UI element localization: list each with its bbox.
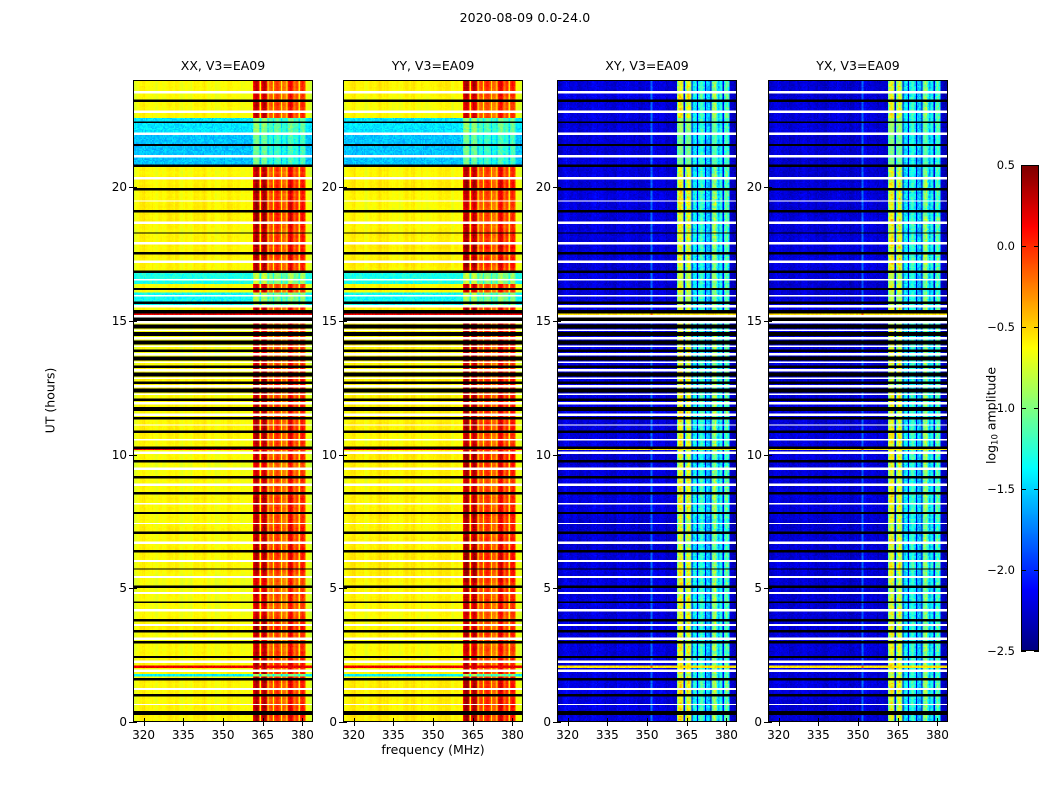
y-tick-label: 0 <box>724 715 762 729</box>
x-tick-mark <box>433 718 434 722</box>
x-tick-label: 335 <box>163 728 203 742</box>
x-tick-mark <box>779 718 780 722</box>
y-tick-label: 0 <box>513 715 551 729</box>
y-tick-label: 20 <box>513 180 551 194</box>
y-tick-mark <box>557 455 561 456</box>
panel-title-yy: YY, V3=EA09 <box>343 58 523 73</box>
x-tick-mark <box>898 722 899 726</box>
x-tick-label: 320 <box>548 728 588 742</box>
x-tick-mark <box>858 722 859 726</box>
colorbar-tick-mark <box>1034 489 1039 490</box>
x-tick-mark <box>687 718 688 722</box>
x-tick-label: 380 <box>492 728 532 742</box>
figure-suptitle: 2020-08-09 0.0-24.0 <box>0 10 1050 25</box>
y-tick-label: 15 <box>89 314 127 328</box>
y-tick-mark <box>768 187 772 188</box>
heatmap-image-xx <box>134 81 312 721</box>
x-tick-label: 335 <box>373 728 413 742</box>
x-tick-mark <box>607 722 608 726</box>
x-tick-mark <box>183 722 184 726</box>
x-tick-mark <box>183 718 184 722</box>
x-tick-mark <box>937 722 938 726</box>
panel-title-yx: YX, V3=EA09 <box>768 58 948 73</box>
x-tick-mark <box>818 718 819 722</box>
y-tick-mark <box>343 455 347 456</box>
y-tick-label: 15 <box>724 314 762 328</box>
y-tick-mark <box>557 588 561 589</box>
colorbar-tick-mark <box>1021 489 1026 490</box>
x-tick-label: 350 <box>413 728 453 742</box>
x-tick-mark <box>473 722 474 726</box>
colorbar-label-subscript: 10 <box>991 434 1001 445</box>
y-tick-mark <box>768 455 772 456</box>
x-tick-mark <box>354 718 355 722</box>
y-tick-mark <box>343 588 347 589</box>
y-tick-label: 0 <box>299 715 337 729</box>
colorbar-tick-mark <box>1021 327 1026 328</box>
x-tick-label: 335 <box>798 728 838 742</box>
colorbar-tick-mark <box>1021 165 1026 166</box>
x-tick-label: 320 <box>124 728 164 742</box>
y-tick-label: 5 <box>89 581 127 595</box>
y-tick-mark <box>133 722 137 723</box>
x-tick-mark <box>263 722 264 726</box>
colorbar-tick-mark <box>1021 408 1026 409</box>
x-tick-mark <box>818 722 819 726</box>
colorbar-tick-mark <box>1034 327 1039 328</box>
x-tick-label: 350 <box>203 728 243 742</box>
y-tick-mark <box>343 321 347 322</box>
x-tick-label: 365 <box>667 728 707 742</box>
colorbar-label: log10 amplitude <box>984 136 999 696</box>
x-tick-label: 365 <box>243 728 283 742</box>
heatmap-image-yx <box>769 81 947 721</box>
heatmap-panel-xy[interactable] <box>557 80 737 722</box>
panel-title-xy: XY, V3=EA09 <box>557 58 737 73</box>
y-tick-label: 20 <box>724 180 762 194</box>
colorbar-tick-mark <box>1021 246 1026 247</box>
x-tick-mark <box>647 722 648 726</box>
x-tick-label: 365 <box>878 728 918 742</box>
x-tick-mark <box>263 718 264 722</box>
x-tick-label: 350 <box>838 728 878 742</box>
colorbar-tick-mark <box>1034 246 1039 247</box>
y-tick-mark <box>133 321 137 322</box>
heatmap-image-xy <box>558 81 736 721</box>
x-tick-mark <box>687 722 688 726</box>
x-tick-label: 380 <box>917 728 957 742</box>
x-axis-label: frequency (MHz) <box>343 742 523 757</box>
x-tick-mark <box>607 718 608 722</box>
x-tick-mark <box>354 722 355 726</box>
y-tick-label: 20 <box>89 180 127 194</box>
y-tick-mark <box>557 321 561 322</box>
x-tick-label: 350 <box>627 728 667 742</box>
figure-canvas: 2020-08-09 0.0-24.0 frequency (MHz) UT (… <box>0 0 1050 800</box>
x-tick-mark <box>568 722 569 726</box>
colorbar-label-suffix: amplitude <box>984 367 999 434</box>
y-tick-mark <box>133 455 137 456</box>
heatmap-panel-yy[interactable] <box>343 80 523 722</box>
x-tick-mark <box>433 722 434 726</box>
colorbar-tick-mark <box>1021 570 1026 571</box>
x-tick-mark <box>144 718 145 722</box>
heatmap-image-yy <box>344 81 522 721</box>
x-tick-mark <box>779 722 780 726</box>
y-tick-mark <box>343 187 347 188</box>
x-tick-mark <box>898 718 899 722</box>
x-tick-mark <box>223 718 224 722</box>
colorbar-tick-mark <box>1034 651 1039 652</box>
colorbar-tick-mark <box>1034 570 1039 571</box>
y-tick-label: 0 <box>89 715 127 729</box>
y-tick-label: 5 <box>513 581 551 595</box>
x-tick-mark <box>393 718 394 722</box>
x-tick-mark <box>858 718 859 722</box>
y-tick-label: 10 <box>299 448 337 462</box>
x-tick-mark <box>473 718 474 722</box>
y-tick-label: 10 <box>89 448 127 462</box>
y-tick-mark <box>768 722 772 723</box>
x-tick-label: 335 <box>587 728 627 742</box>
x-tick-label: 320 <box>334 728 374 742</box>
y-tick-label: 20 <box>299 180 337 194</box>
heatmap-panel-xx[interactable] <box>133 80 313 722</box>
y-tick-label: 10 <box>724 448 762 462</box>
x-tick-label: 320 <box>759 728 799 742</box>
colorbar-tick-mark <box>1034 408 1039 409</box>
x-tick-label: 380 <box>706 728 746 742</box>
x-tick-label: 380 <box>282 728 322 742</box>
x-tick-mark <box>647 718 648 722</box>
y-tick-label: 5 <box>299 581 337 595</box>
x-tick-mark <box>568 718 569 722</box>
y-tick-label: 10 <box>513 448 551 462</box>
y-tick-mark <box>557 187 561 188</box>
y-tick-mark <box>768 321 772 322</box>
x-tick-mark <box>144 722 145 726</box>
x-tick-mark <box>223 722 224 726</box>
y-tick-label: 15 <box>513 314 551 328</box>
heatmap-panel-yx[interactable] <box>768 80 948 722</box>
y-axis-label: UT (hours) <box>43 121 58 681</box>
colorbar-tick-mark <box>1034 165 1039 166</box>
y-tick-mark <box>343 722 347 723</box>
colorbar-tick-mark <box>1021 651 1026 652</box>
x-tick-mark <box>937 718 938 722</box>
x-tick-mark <box>393 722 394 726</box>
y-tick-mark <box>133 187 137 188</box>
y-tick-mark <box>133 588 137 589</box>
y-tick-mark <box>557 722 561 723</box>
x-tick-label: 365 <box>453 728 493 742</box>
y-tick-label: 5 <box>724 581 762 595</box>
y-tick-label: 15 <box>299 314 337 328</box>
panel-title-xx: XX, V3=EA09 <box>133 58 313 73</box>
colorbar-label-prefix: log <box>984 445 999 464</box>
y-tick-mark <box>768 588 772 589</box>
